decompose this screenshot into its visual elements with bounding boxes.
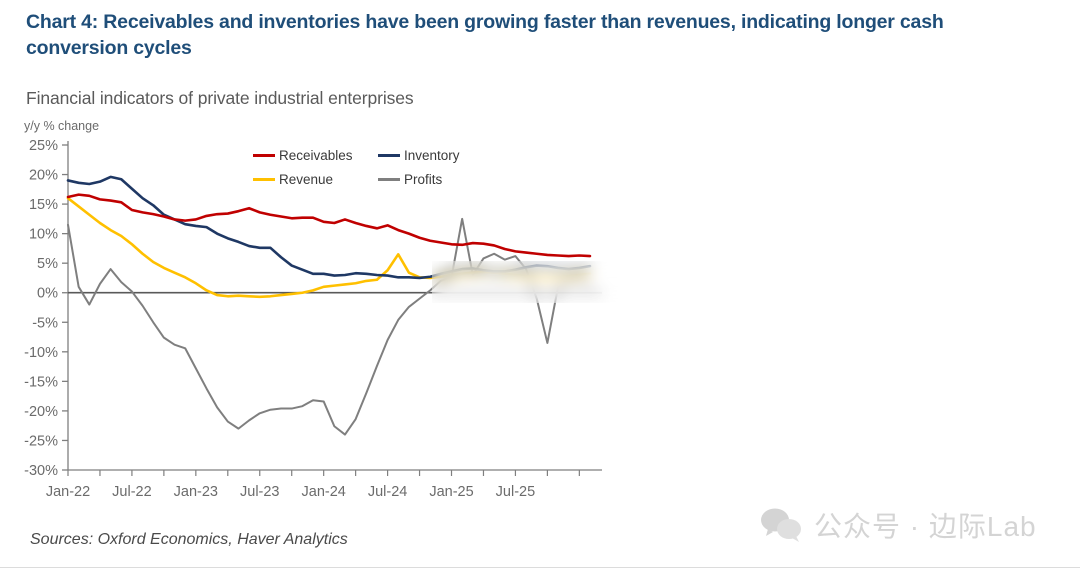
y-axis-tick-label: 0% <box>37 286 58 302</box>
x-axis-tick-label: Jan-23 <box>174 484 218 500</box>
chart-legend: Receivables Inventory Revenue Profits <box>253 148 513 187</box>
y-axis-tick-label: -30% <box>24 463 58 479</box>
legend-swatch-profits <box>378 178 400 181</box>
x-axis-tick-label: Jan-25 <box>429 484 473 500</box>
y-axis-tick-label: -5% <box>32 315 58 331</box>
x-axis-tick-label: Jul-25 <box>496 484 536 500</box>
chart-svg: 25%20%15%10%5%0%-5%-10%-15%-20%-25%-30%J… <box>0 0 1080 572</box>
y-axis-tick-label: -25% <box>24 433 58 449</box>
y-axis-tick-label: -20% <box>24 404 58 420</box>
legend-item-profits: Profits <box>378 172 503 187</box>
source-note: Sources: Oxford Economics, Haver Analyti… <box>30 531 348 549</box>
y-axis-tick-label: -15% <box>24 374 58 390</box>
y-axis-tick-label: 20% <box>29 168 58 184</box>
watermark: 公众号 · 边际Lab <box>760 505 1037 545</box>
legend-item-inventory: Inventory <box>378 148 503 163</box>
legend-item-receivables: Receivables <box>253 148 378 163</box>
legend-label-revenue: Revenue <box>279 172 333 187</box>
legend-label-profits: Profits <box>404 172 442 187</box>
y-axis-tick-label: 10% <box>29 227 58 243</box>
y-axis-tick-label: 25% <box>29 138 58 154</box>
x-axis-tick-label: Jan-24 <box>302 484 346 500</box>
legend-swatch-revenue <box>253 178 275 181</box>
legend-label-receivables: Receivables <box>279 148 353 163</box>
x-axis-tick-label: Jul-22 <box>112 484 152 500</box>
watermark-text: 公众号 · 边际Lab <box>814 505 1037 545</box>
legend-swatch-inventory <box>378 154 400 157</box>
legend-swatch-receivables <box>253 154 275 157</box>
wechat-icon <box>760 507 802 543</box>
x-axis-tick-label: Jan-22 <box>46 484 90 500</box>
legend-label-inventory: Inventory <box>404 148 460 163</box>
y-axis-tick-label: 5% <box>37 256 58 272</box>
y-axis-tick-label: -10% <box>24 345 58 361</box>
x-axis-tick-label: Jul-24 <box>368 484 408 500</box>
series-line-inventory <box>68 177 590 278</box>
chart-plot-area: 25%20%15%10%5%0%-5%-10%-15%-20%-25%-30%J… <box>0 0 1080 572</box>
bottom-divider <box>0 567 1080 568</box>
series-line-receivables <box>68 195 590 256</box>
x-axis-tick-label: Jul-23 <box>240 484 280 500</box>
legend-item-revenue: Revenue <box>253 172 378 187</box>
y-axis-tick-label: 15% <box>29 197 58 213</box>
